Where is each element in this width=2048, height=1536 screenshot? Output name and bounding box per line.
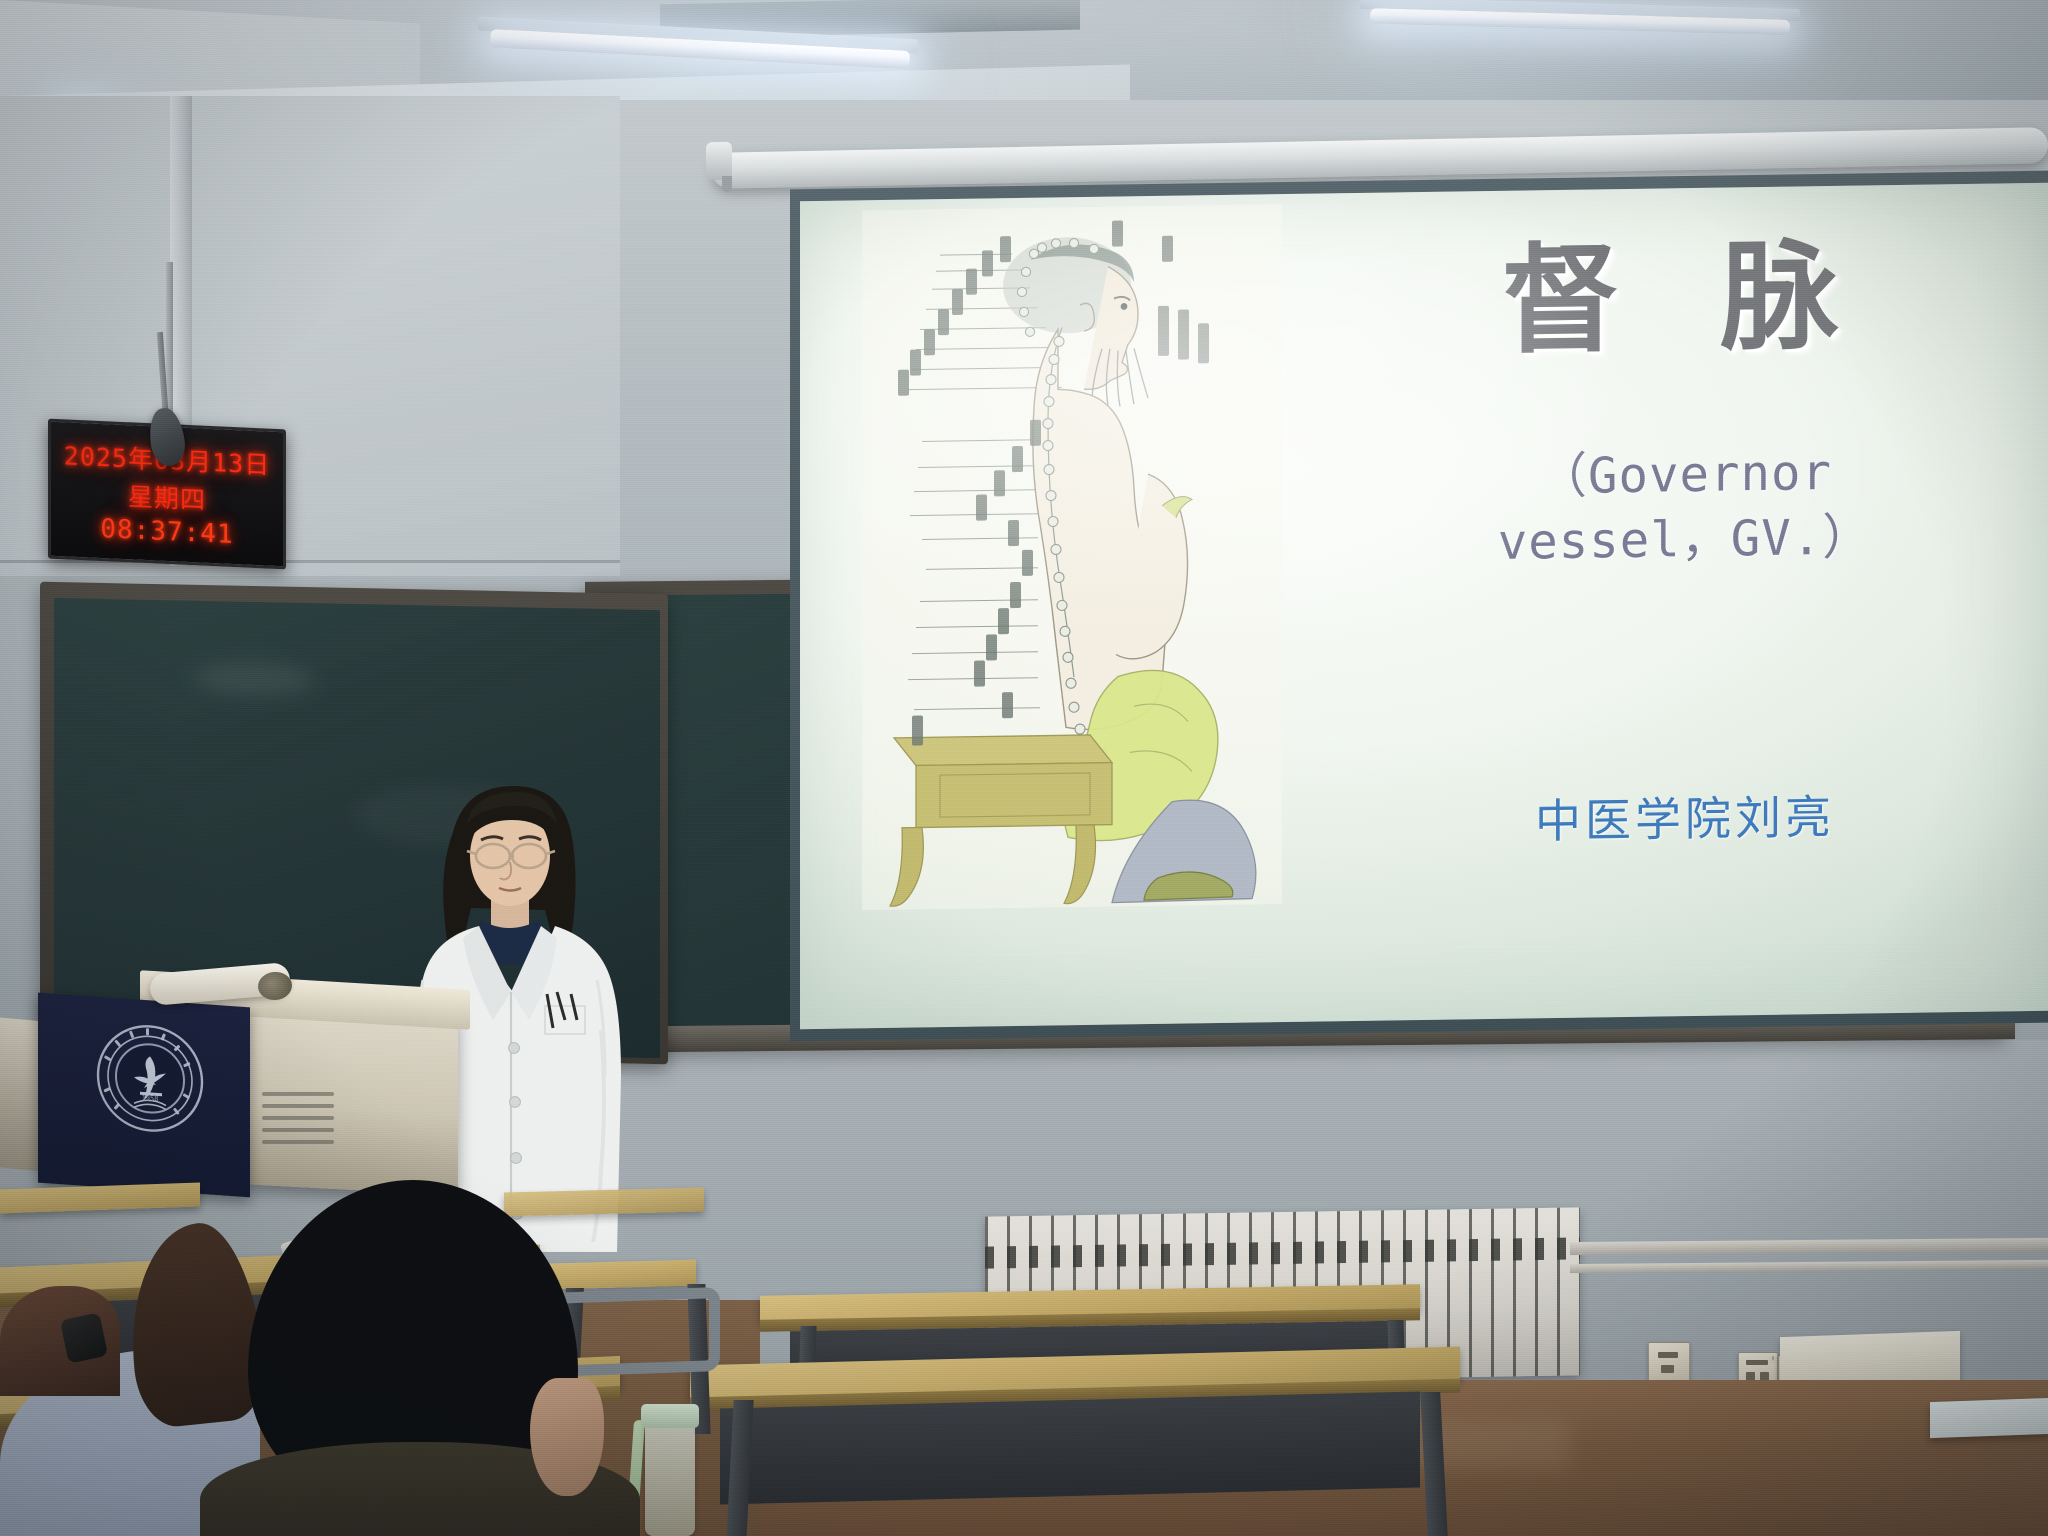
light-switch-panel[interactable] bbox=[1648, 1342, 1690, 1384]
slide-subtitle-line1: （Governor bbox=[1360, 438, 2010, 512]
led-clock-time: 08:37:41 bbox=[100, 514, 233, 550]
slide-title: 督 脉 bbox=[1360, 231, 2010, 365]
projection-screen: 督 脉 （Governor vessel，GV.） 中医学院刘亮 bbox=[800, 183, 2048, 1030]
student-desk bbox=[504, 1188, 704, 1217]
projection-screen-roller-cap bbox=[706, 142, 732, 180]
podium-vent bbox=[262, 1104, 334, 1108]
outlet-placeholder-3 bbox=[1772, 1356, 1774, 1358]
podium-vent bbox=[262, 1116, 334, 1120]
projection-screen-hook bbox=[722, 176, 732, 192]
water-bottle[interactable] bbox=[645, 1418, 695, 1536]
slide-subtitle-line2: vessel，GV.） bbox=[1360, 503, 2010, 577]
water-bottle-cap[interactable] bbox=[641, 1404, 699, 1428]
student-foreground-center-ear bbox=[530, 1378, 604, 1496]
outlet-placeholder bbox=[1772, 1358, 1774, 1360]
podium-banner: 1958 bbox=[38, 993, 250, 1198]
university-emblem-icon: 1958 bbox=[94, 1019, 206, 1139]
led-clock-weekday: 星期四 bbox=[128, 477, 206, 517]
presentation-slide: 督 脉 （Governor vessel，GV.） 中医学院刘亮 bbox=[800, 183, 2048, 1030]
svg-text:1958: 1958 bbox=[142, 1094, 159, 1103]
slide-author: 中医学院刘亮 bbox=[1360, 778, 2010, 854]
podium-vent bbox=[262, 1092, 334, 1096]
podium-vent bbox=[262, 1128, 334, 1132]
student-desk-right bbox=[1930, 1398, 2048, 1438]
chalk-smudge bbox=[194, 661, 314, 697]
slide-subtitle: （Governor vessel，GV.） bbox=[1360, 438, 2010, 577]
podium-vent bbox=[262, 1140, 334, 1144]
classroom-photo: 2025年03月13日 星期四 08:37:41 bbox=[0, 0, 2048, 1536]
podium-body bbox=[248, 1004, 458, 1195]
acupuncture-figure bbox=[862, 204, 1282, 910]
student-desk-underside bbox=[720, 1391, 1420, 1504]
